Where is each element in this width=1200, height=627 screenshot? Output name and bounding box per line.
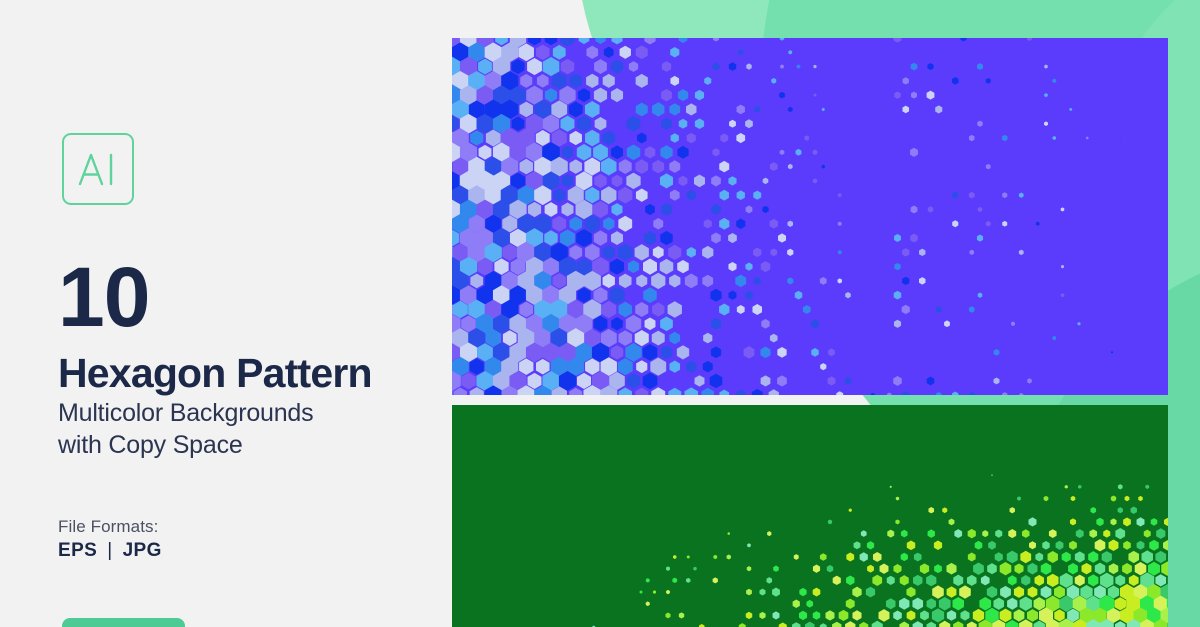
- bottom-accent-pill: [62, 618, 185, 627]
- ai-file-badge: [62, 133, 134, 205]
- green-hexagon-preview: [452, 405, 1168, 627]
- purple-hexagon-preview: [452, 38, 1168, 395]
- subtitle-line-1: Multicolor Backgrounds: [58, 397, 313, 429]
- ai-letters-icon: [76, 151, 120, 187]
- page-subtitle: Multicolor Backgrounds with Copy Space: [58, 397, 313, 461]
- subtitle-line-2: with Copy Space: [58, 429, 313, 461]
- poster-stage: 10 Hexagon Pattern Multicolor Background…: [0, 0, 1200, 627]
- green-hexagon-layer: [452, 405, 1168, 627]
- file-formats-value: EPS | JPG: [58, 540, 162, 562]
- format-jpg: JPG: [123, 540, 162, 562]
- format-eps: EPS: [58, 540, 97, 562]
- file-formats-label: File Formats:: [58, 517, 158, 537]
- format-separator: |: [107, 540, 112, 562]
- page-title: Hexagon Pattern: [58, 352, 372, 395]
- purple-hexagon-layer: [452, 38, 1168, 395]
- item-count: 10: [58, 258, 149, 338]
